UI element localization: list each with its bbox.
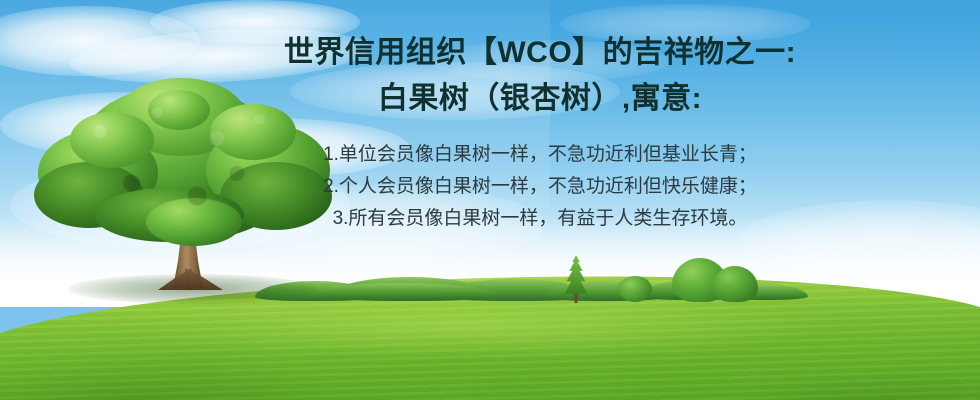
- headline-line-2: 白果树（银杏树）,寓意:: [200, 80, 880, 118]
- headline-line-1: 世界信用组织【WCO】的吉祥物之一:: [200, 34, 880, 72]
- wco-mascot-banner: 世界信用组织【WCO】的吉祥物之一: 白果树（银杏树）,寓意: 1.单位会员像白…: [0, 0, 980, 400]
- bullet-item-3: 3.所有会员像白果树一样，有益于人类生存环境。: [200, 206, 880, 232]
- bullet-item-2: 2.个人会员像白果树一样，不急功近利但快乐健康；: [200, 174, 880, 200]
- bullet-item-1: 1.单位会员像白果树一样，不急功近利但基业长青；: [200, 142, 880, 168]
- banner-text-block: 世界信用组织【WCO】的吉祥物之一: 白果树（银杏树）,寓意: 1.单位会员像白…: [0, 0, 980, 400]
